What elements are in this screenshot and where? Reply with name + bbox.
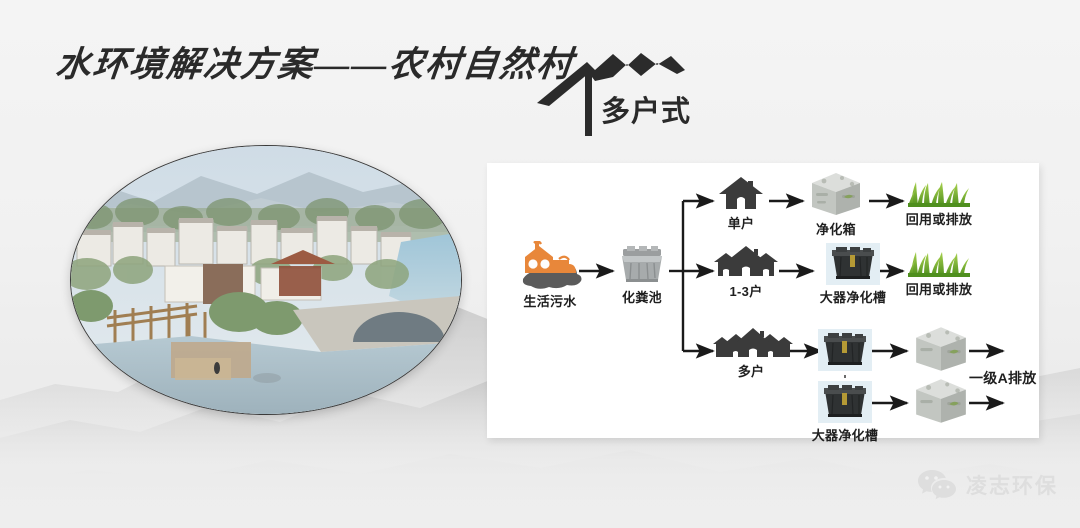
purification-box-icon [808,171,864,217]
septic-tank-icon [618,245,666,285]
flow-node-household-3-label: 多户 [713,361,789,380]
flow-node-household-3: 多户 [713,327,789,380]
flow-node-source: 生活污水 [509,241,591,310]
flow-node-box-3-top [911,325,971,373]
flow-node-treatment-3-bottom: 大器净化槽 [805,381,885,444]
flow-node-septic: 化粪池 [611,245,673,306]
flow-node-box-3-bottom [911,377,971,425]
flow-node-outcome-2: 回用或排放 [897,247,981,298]
flow-node-outcome-2-label: 回用或排放 [897,279,981,298]
purification-tank-icon [817,381,873,423]
purification-tank-icon [825,243,881,285]
photo-artwork [71,146,461,414]
flow-node-treatment-1: 净化箱 [799,171,873,238]
single-house-icon [718,175,764,211]
flow-node-outcome-3-label: 一级A排放 [969,368,1049,388]
flow-node-household-1: 单户 [713,175,769,232]
flow-node-household-1-label: 单户 [713,213,769,232]
flow-node-treatment-1-label: 净化箱 [799,219,873,238]
purification-box-icon [912,325,970,373]
orange-house-sewage-icon [515,241,585,289]
brand-logo: 多户式 [535,48,715,138]
flow-node-household-2-label: 1-3户 [713,281,779,300]
flow-node-treatment-3-top [817,329,873,371]
flow-node-outcome-1-label: 回用或排放 [897,209,981,228]
slide-canvas: 水环境解决方案——农村自然村 多户式 [0,0,1080,528]
village-waterfront-photo [70,145,462,415]
flow-node-treatment-2: 大器净化槽 [809,243,897,306]
brand-logo-label: 多户式 [601,88,691,130]
flow-node-treatment-3-bottom-label: 大器净化槽 [805,425,885,444]
purification-box-icon [912,377,970,425]
flow-node-household-2: 1-3户 [713,245,779,300]
grass-icon [908,247,970,277]
treatment-flow-diagram: 生活污水 化粪池 [487,163,1039,438]
three-houses-icon [713,245,779,279]
purification-tank-icon [817,329,873,371]
flow-node-outcome-3: 一级A排放 [969,366,1049,388]
wechat-icon [917,468,957,502]
watermark-text: 凌志环保 [966,470,1058,500]
grass-icon [908,177,970,207]
flow-node-septic-label: 化粪池 [611,287,673,306]
flow-node-treatment-2-label: 大器净化槽 [809,287,897,306]
multi-houses-icon [713,327,793,359]
flow-node-source-label: 生活污水 [509,291,591,310]
watermark: 凌志环保 [917,468,1058,502]
flow-node-outcome-1: 回用或排放 [897,177,981,228]
